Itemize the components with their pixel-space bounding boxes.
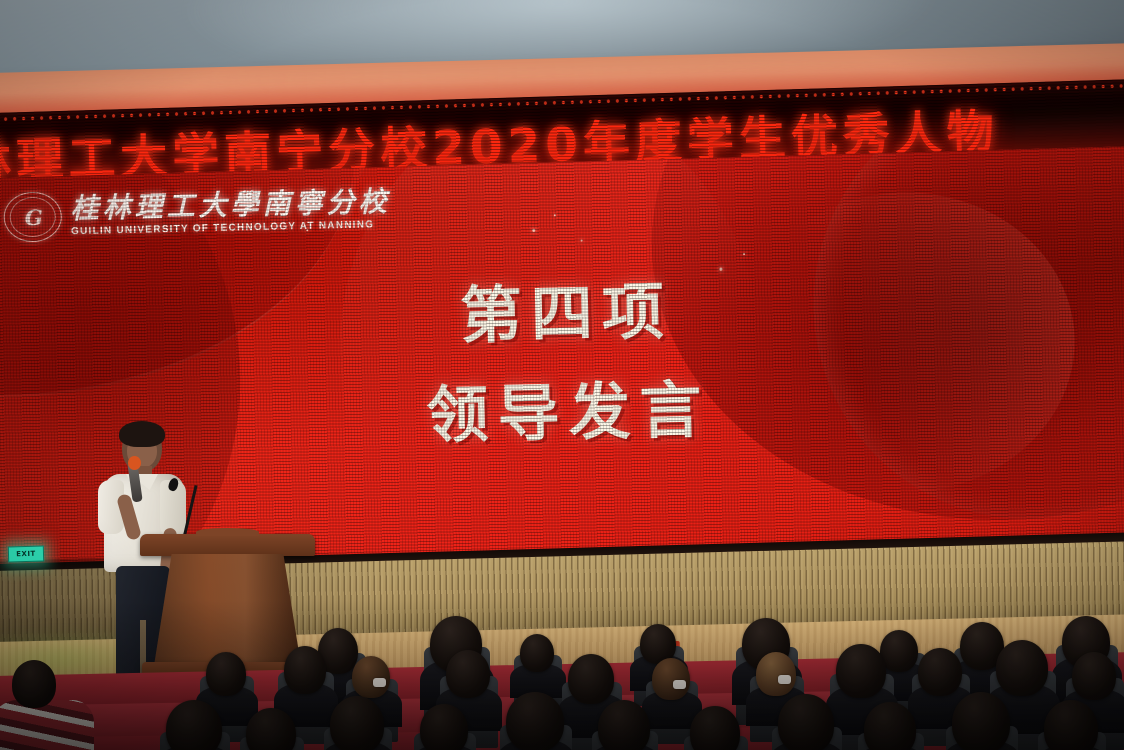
exit-sign: EXIT: [8, 546, 44, 563]
screenshot-root: 桂林理工大学南宁分校2020年度学生优秀人物 G 桂林理工大學南寧分校 GUIL…: [0, 0, 1124, 750]
audience-head: [420, 704, 468, 750]
audience-area: [0, 604, 1124, 750]
audience-head: [996, 640, 1048, 696]
exit-sign-label: EXIT: [9, 547, 43, 562]
audience-head: [952, 692, 1010, 750]
screen-sparkle: [581, 240, 583, 242]
audience-head: [880, 630, 918, 672]
audience-head: [352, 656, 390, 698]
hair-clip: [778, 675, 791, 684]
audience-head: [12, 660, 56, 708]
headline-line-1: 第四项: [0, 262, 1124, 366]
striped-shirt-person: [0, 700, 94, 750]
audience-head: [520, 634, 554, 672]
university-logo-text: 桂林理工大學南寧分校 GUILIN UNIVERSITY OF TECHNOLO…: [70, 188, 391, 237]
podium-top: [140, 534, 315, 556]
audience-head: [756, 652, 796, 696]
seal-monogram: G: [24, 204, 41, 229]
audience-head: [206, 652, 246, 696]
audience-head: [568, 654, 614, 704]
screen-sparkle: [743, 253, 745, 255]
hair-clip: [373, 678, 386, 687]
audience-head: [836, 644, 886, 698]
audience-head: [864, 702, 916, 750]
audience-head: [778, 694, 834, 750]
audience-head: [284, 646, 326, 694]
audience-head: [330, 696, 384, 750]
audience-head: [918, 648, 962, 696]
university-name-cn: 桂林理工大學南寧分校: [70, 188, 391, 223]
hair-clip: [673, 680, 686, 689]
audience-head: [652, 658, 690, 700]
audience-head: [506, 692, 564, 750]
university-seal-icon: G: [3, 191, 62, 242]
audience-head: [1072, 652, 1116, 700]
audience-head: [446, 650, 490, 698]
microphone-head-icon: [128, 456, 141, 470]
audience-head: [598, 700, 650, 750]
audience-front-left-person: [0, 660, 90, 750]
university-logo: G 桂林理工大學南寧分校 GUILIN UNIVERSITY OF TECHNO…: [3, 184, 391, 243]
screen-sparkle: [532, 229, 535, 232]
speaker-hair: [119, 421, 165, 447]
audience-head: [166, 700, 222, 750]
audience-head: [1044, 700, 1098, 750]
screen-sparkle: [554, 214, 556, 216]
